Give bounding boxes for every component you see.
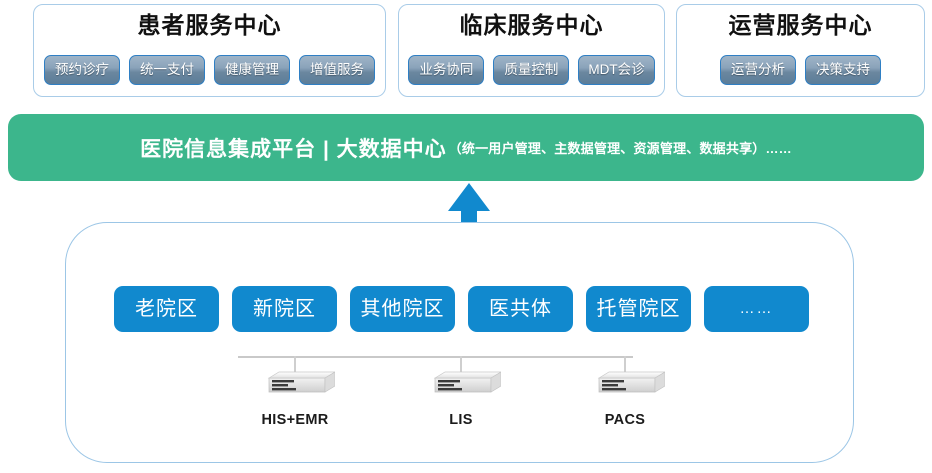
chip-row-patient: 预约诊疗 统一支付 健康管理 增值服务 bbox=[34, 55, 385, 85]
campus-button-medical-consortium[interactable]: 医共体 bbox=[468, 286, 573, 332]
panel-clinical-service-center: 临床服务中心 业务协同 质量控制 MDT会诊 bbox=[398, 4, 665, 97]
chip-quality-control[interactable]: 质量控制 bbox=[493, 55, 569, 85]
panel-title-clinical: 临床服务中心 bbox=[399, 12, 664, 40]
chip-decision-support[interactable]: 决策支持 bbox=[805, 55, 881, 85]
panel-title-operation: 运营服务中心 bbox=[677, 12, 924, 40]
campus-group-container: 老院区 新院区 其他院区 医共体 托管院区 …… bbox=[65, 222, 854, 463]
campus-button-other-campus[interactable]: 其他院区 bbox=[350, 286, 455, 332]
campus-button-managed-campus[interactable]: 托管院区 bbox=[586, 286, 691, 332]
server-icon bbox=[421, 370, 501, 404]
platform-subtitle: （统一用户管理、主数据管理、资源管理、数据共享）…… bbox=[449, 138, 792, 157]
campus-button-new-campus[interactable]: 新院区 bbox=[232, 286, 337, 332]
server-icon bbox=[255, 370, 335, 404]
chip-value-added-service[interactable]: 增值服务 bbox=[299, 55, 375, 85]
system-label-pacs: PACS bbox=[571, 412, 679, 428]
campus-button-row: 老院区 新院区 其他院区 医共体 托管院区 …… bbox=[114, 286, 809, 332]
chip-health-management[interactable]: 健康管理 bbox=[214, 55, 290, 85]
chip-business-collaboration[interactable]: 业务协同 bbox=[408, 55, 484, 85]
panel-title-patient: 患者服务中心 bbox=[34, 12, 385, 40]
chip-appointment-care[interactable]: 预约诊疗 bbox=[44, 55, 120, 85]
platform-title: 医院信息集成平台 | 大数据中心 bbox=[140, 133, 447, 163]
system-label-lis: LIS bbox=[407, 412, 515, 428]
diagram-canvas: 患者服务中心 预约诊疗 统一支付 健康管理 增值服务 临床服务中心 业务协同 质… bbox=[0, 0, 932, 473]
system-label-his-emr: HIS+EMR bbox=[241, 412, 349, 428]
chip-row-operation: 运营分析 决策支持 bbox=[677, 55, 924, 85]
chip-operation-analysis[interactable]: 运营分析 bbox=[720, 55, 796, 85]
panel-patient-service-center: 患者服务中心 预约诊疗 统一支付 健康管理 增值服务 bbox=[33, 4, 386, 97]
panel-operation-service-center: 运营服务中心 运营分析 决策支持 bbox=[676, 4, 925, 97]
chip-unified-payment[interactable]: 统一支付 bbox=[129, 55, 205, 85]
campus-button-old-campus[interactable]: 老院区 bbox=[114, 286, 219, 332]
server-icon bbox=[585, 370, 665, 404]
integration-platform-bar: 医院信息集成平台 | 大数据中心 （统一用户管理、主数据管理、资源管理、数据共享… bbox=[8, 114, 924, 181]
chip-row-clinical: 业务协同 质量控制 MDT会诊 bbox=[399, 55, 664, 85]
campus-button-more[interactable]: …… bbox=[704, 286, 809, 332]
chip-mdt-consultation[interactable]: MDT会诊 bbox=[578, 55, 654, 85]
system-bus-line bbox=[238, 356, 633, 358]
